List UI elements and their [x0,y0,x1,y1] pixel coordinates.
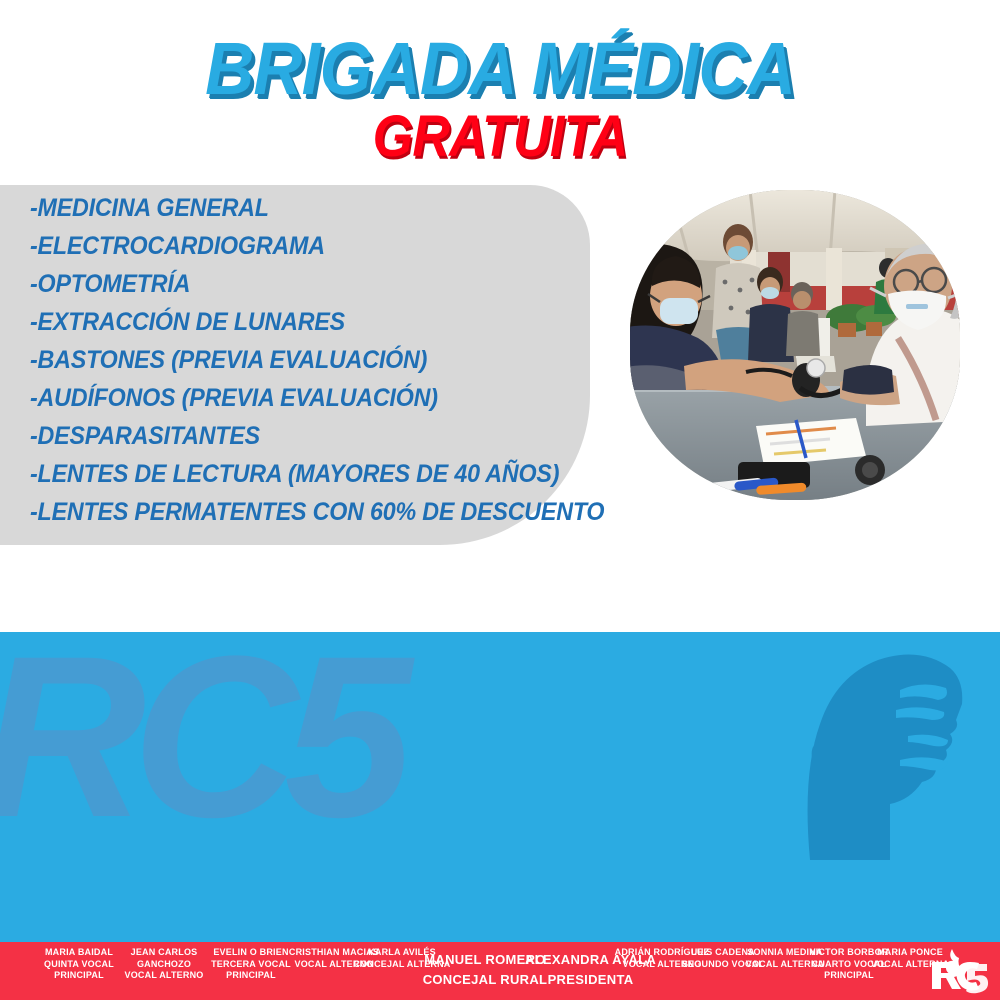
list-item: -MEDICINA GENERAL [30,196,551,221]
list-item: -AUDÍFONOS (PREVIA EVALUACIÓN) [30,386,551,411]
list-item: -ELECTROCARDIOGRAMA [30,234,551,259]
list-item: -OPTOMETRÍA [30,272,551,297]
list-item: -LENTES PERMATENTES CON 60% DE DESCUENTO [30,500,551,525]
candidate-role: PRESIDENTA [548,972,634,987]
leader-silhouette-icon [750,632,980,864]
candidate-name: JEAN CARLOS GANCHOZO [131,947,198,969]
rc5-watermark: RC5 [0,632,398,852]
list-item: -EXTRACCIÓN DE LUNARES [30,310,551,335]
candidate-role: QUINTA VOCAL PRINCIPAL [44,959,114,981]
header: BRIGADA MÉDICA GRATUITA [0,0,1000,180]
list-item: -DESPARASITANTES [30,424,551,449]
page-title: BRIGADA MÉDICA [40,26,960,111]
services-list: -MEDICINA GENERAL -ELECTROCARDIOGRAMA -O… [30,196,590,538]
poster-root: BRIGADA MÉDICA GRATUITA -MEDICINA GENERA… [0,0,1000,1000]
candidates-name-bar: MARIA BAIDAL QUINTA VOCAL PRINCIPAL JEAN… [0,942,1000,1000]
rc5-logo [926,948,990,996]
medical-brigade-photo [630,190,960,500]
list-item: -LENTES DE LECTURA (MAYORES DE 40 AÑOS) [30,462,551,487]
candidate-name: MARIA BAIDAL [45,947,113,957]
campaign-band: RC5 [0,632,1000,942]
event-info-row: SÁBADO 17 DIC. 09H00 POSORJA - POLIDEPOR… [0,552,1000,630]
page-subtitle: GRATUITA [50,103,950,170]
list-item: -BASTONES (PREVIA EVALUACIÓN) [30,348,551,373]
